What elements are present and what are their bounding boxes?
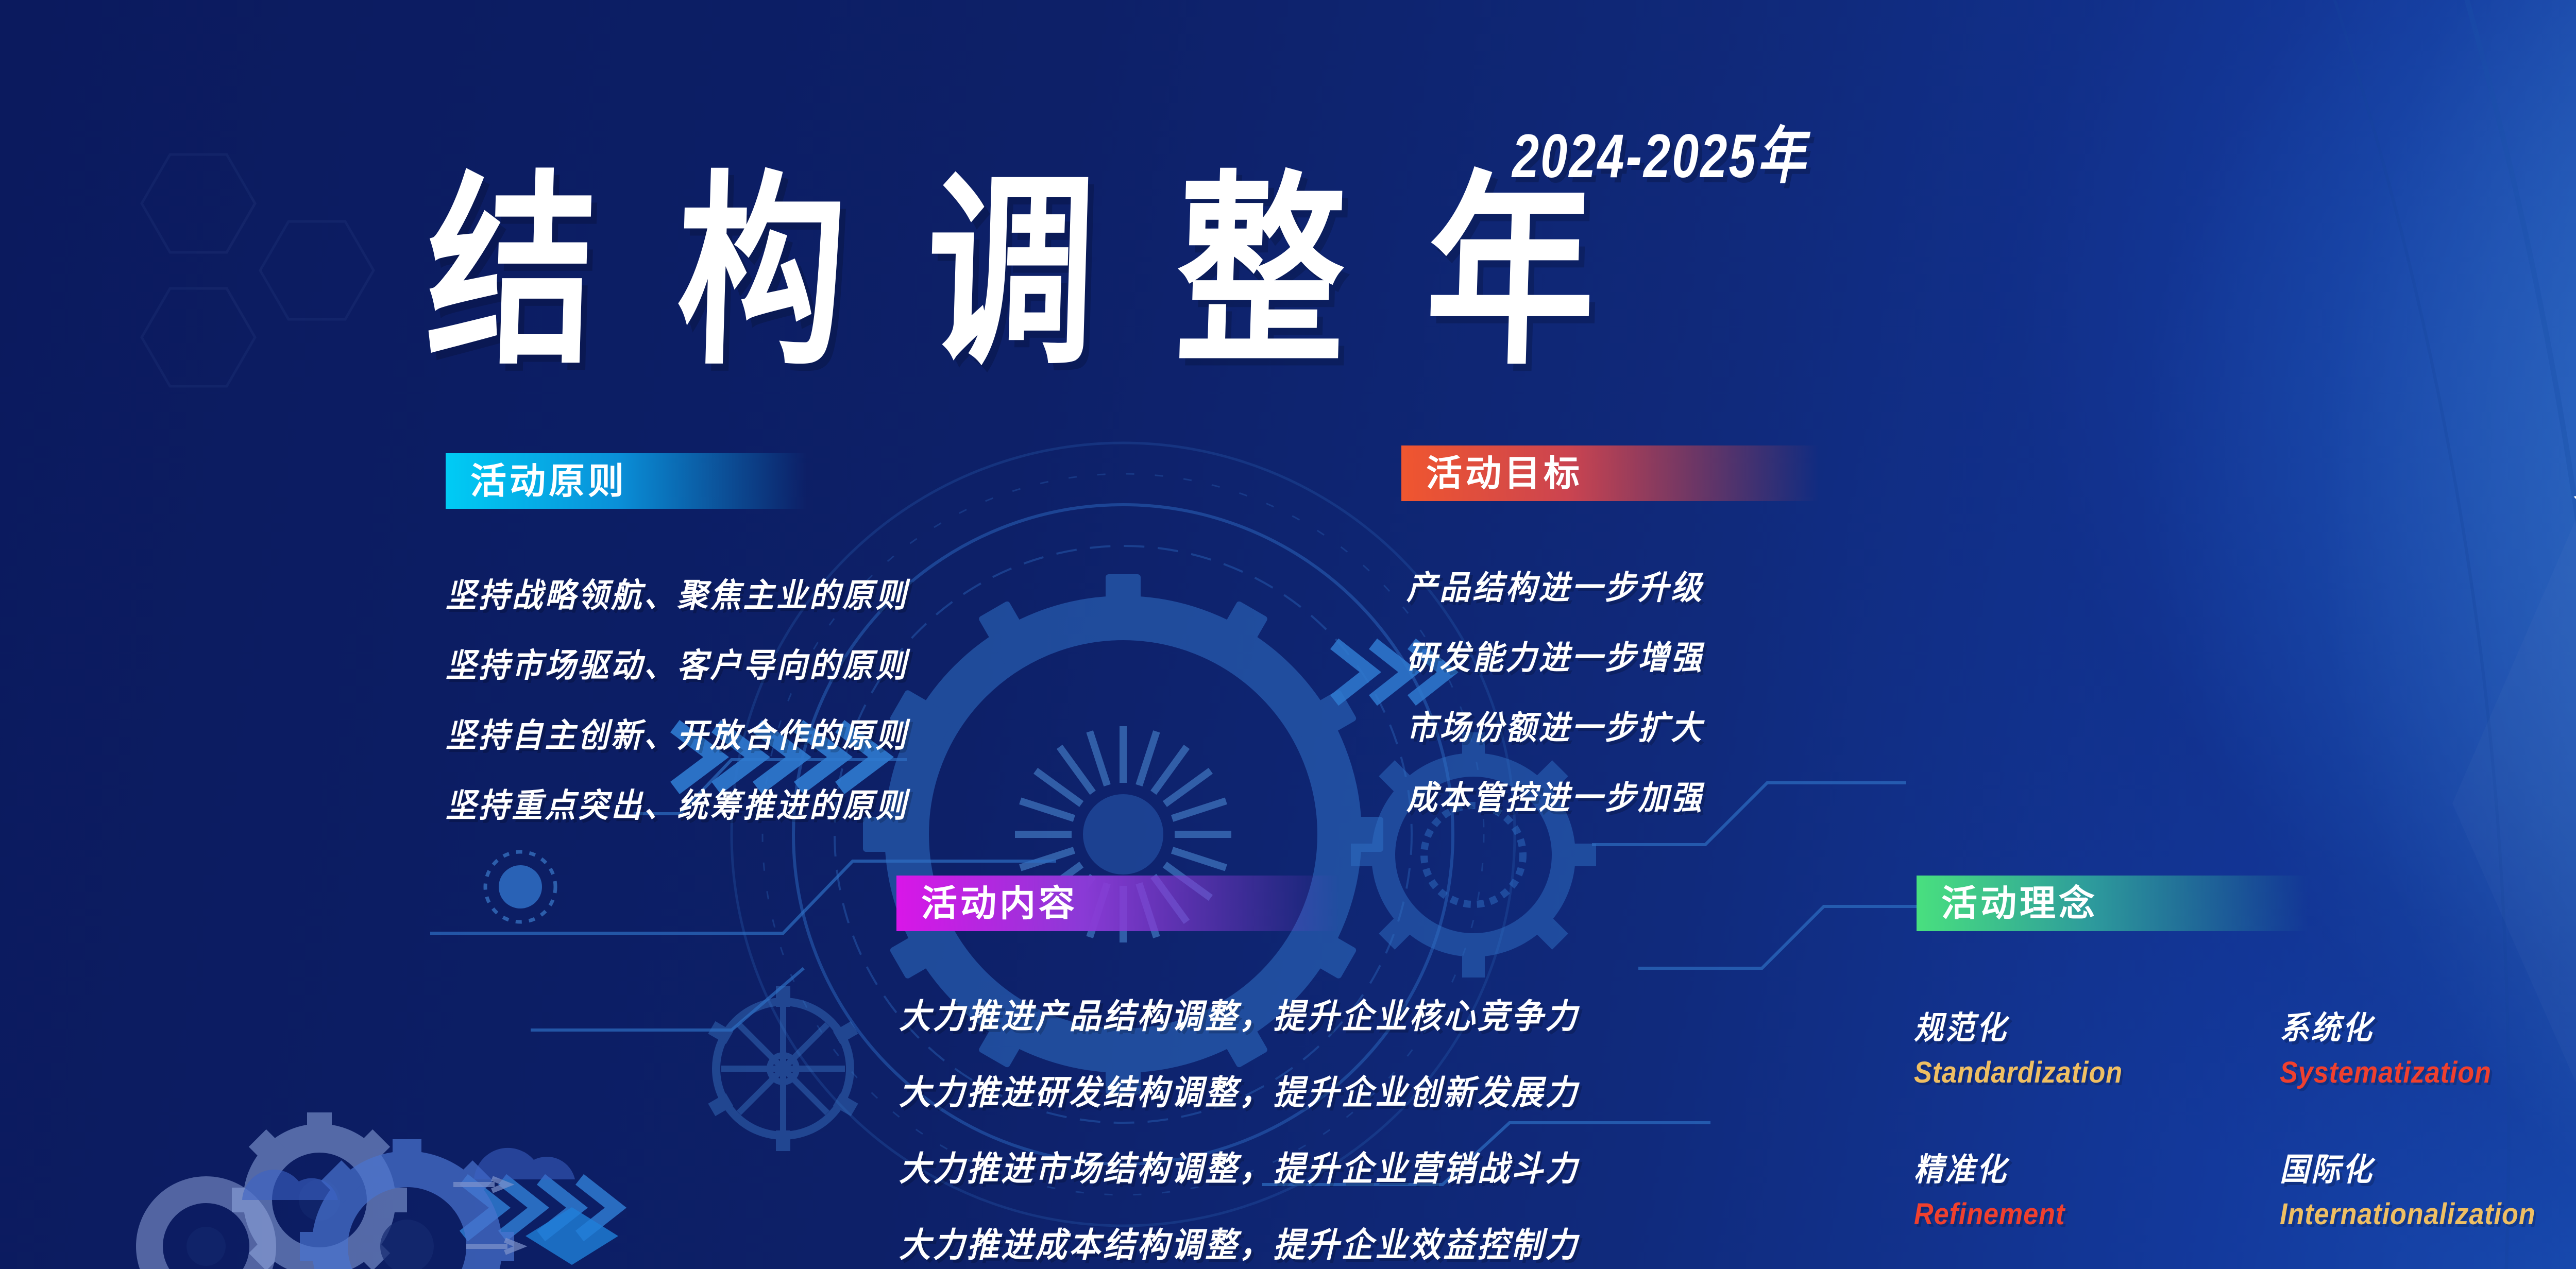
list-item: 大力推进产品结构调整，提升企业核心竞争力 <box>899 989 1580 1038</box>
list-item: 坚持市场驱动、客户导向的原则 <box>446 639 908 687</box>
concept-label-en: Internationalization <box>2280 1197 2576 1231</box>
gears-cloud-cluster <box>149 1112 618 1269</box>
poster-canvas: 2024-2025年 结 构 调 整 年 活动原则 坚持战略领航、聚焦主业的原则… <box>0 0 2576 1269</box>
list-item: 产品结构进一步升级 <box>1406 561 1704 609</box>
section-badge-goals: 活动目标 <box>1401 445 1819 501</box>
list-item: 坚持自主创新、开放合作的原则 <box>446 709 908 757</box>
concept-item: 精准化 Refinement <box>1914 1143 2280 1231</box>
section-badge-contents: 活动内容 <box>896 876 1340 931</box>
concept-label-en: Systematization <box>2280 1055 2576 1090</box>
concept-label-en: Standardization <box>1914 1055 2243 1090</box>
list-item: 成本管控进一步加强 <box>1406 771 1704 819</box>
concept-label-cn: 系统化 <box>2280 1002 2576 1048</box>
principles-list: 坚持战略领航、聚焦主业的原则 坚持市场驱动、客户导向的原则 坚持自主创新、开放合… <box>446 569 943 849</box>
list-item: 坚持战略领航、聚焦主业的原则 <box>446 569 908 616</box>
concept-label-en: Refinement <box>1914 1197 2243 1231</box>
list-item: 坚持重点突出、统筹推进的原则 <box>446 779 908 827</box>
chevron-arrows-2 <box>464 1179 616 1236</box>
concept-label-cn: 精准化 <box>1914 1143 2250 1190</box>
dotted-node-icon <box>485 852 555 922</box>
hex-pattern-watermark <box>142 155 374 386</box>
goals-list: 产品结构进一步升级 研发能力进一步增强 市场份额进一步扩大 成本管控进一步加强 <box>1406 561 1726 842</box>
spoked-wheel-icon <box>708 986 858 1151</box>
list-item: 市场份额进一步扩大 <box>1406 701 1704 749</box>
concept-item: 国际化 Internationalization <box>2280 1143 2576 1231</box>
concept-item: 规范化 Standardization <box>1914 1002 2280 1090</box>
section-badge-concepts: 活动理念 <box>1917 876 2308 931</box>
concept-label-cn: 国际化 <box>2280 1143 2576 1190</box>
concepts-grid: 规范化 Standardization 系统化 Systematization … <box>1914 1002 2576 1231</box>
list-item: 大力推进市场结构调整，提升企业营销战斗力 <box>899 1141 1580 1191</box>
concept-label-cn: 规范化 <box>1914 1002 2250 1048</box>
page-title: 结 构 调 整 年 <box>425 170 1615 376</box>
contents-list: 大力推进产品结构调整，提升企业核心竞争力 大力推进研发结构调整，提升企业创新发展… <box>899 989 1631 1269</box>
list-item: 大力推进研发结构调整，提升企业创新发展力 <box>899 1065 1580 1114</box>
list-item: 大力推进成本结构调整，提升企业效益控制力 <box>899 1217 1580 1267</box>
concept-item: 系统化 Systematization <box>2280 1002 2576 1090</box>
right-slogan-line-2: 奋进高质量发展新征程 <box>2573 435 2576 553</box>
section-badge-principles: 活动原则 <box>446 453 806 509</box>
list-item: 研发能力进一步增强 <box>1406 631 1704 679</box>
